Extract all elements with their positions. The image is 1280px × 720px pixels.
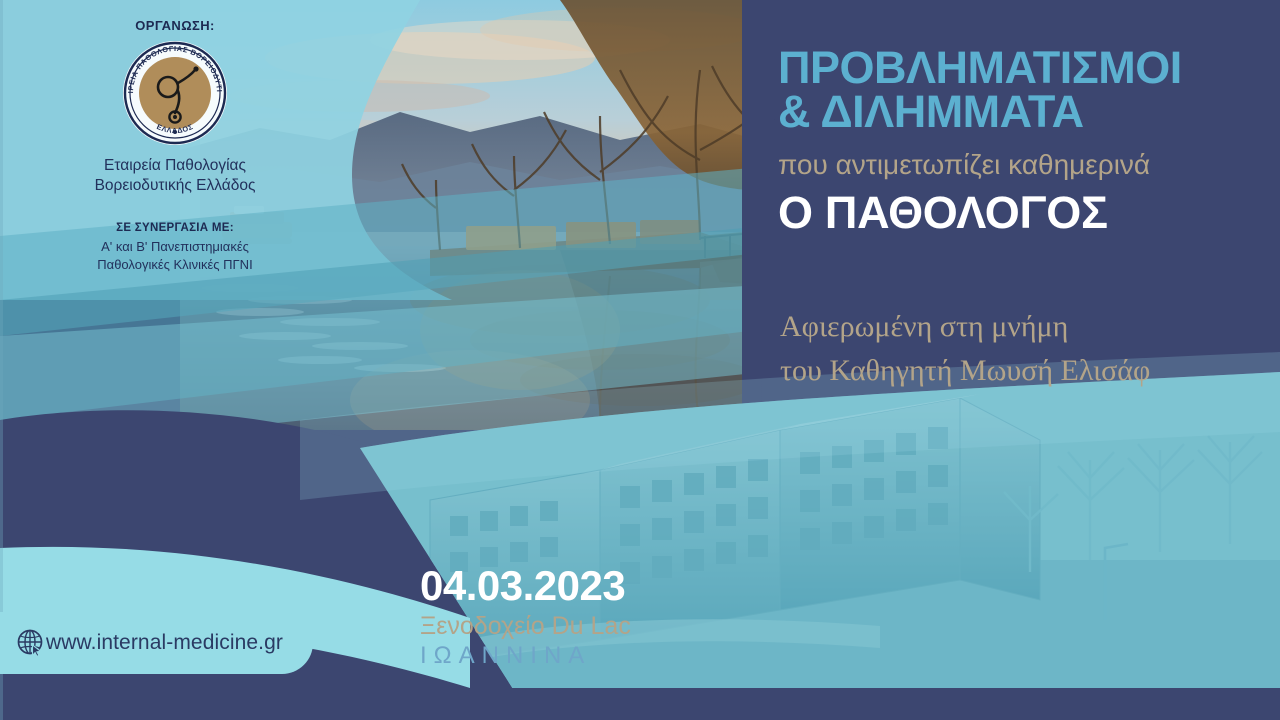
headline-subtitle: που αντιμετωπίζει καθημερινά: [778, 150, 1278, 181]
headline-line2: & ΔΙΛΗΜΜΑΤΑ: [778, 90, 1278, 134]
conference-poster: ΟΡΓΑΝΩΣΗ:: [0, 0, 1280, 720]
collaboration-line2: Παθολογικές Κλινικές ΠΓΝΙ: [0, 256, 350, 274]
headline-line1: ΠΡΟΒΛΗΜΑΤΙΣΜΟΙ: [778, 46, 1278, 90]
collaboration-text: Α' και Β' Πανεπιστημιακές Παθολογικές Κλ…: [0, 238, 350, 274]
headline-accent: Ο ΠΑΘΟΛΟΓΟΣ: [778, 190, 1278, 235]
society-name: Εταιρεία Παθολογίας Βορειοδυτικής Ελλάδο…: [0, 156, 350, 197]
collaboration-line1: Α' και Β' Πανεπιστημιακές: [0, 238, 350, 256]
website-pill[interactable]: www.internal-medicine.gr: [0, 612, 313, 674]
headline-block: ΠΡΟΒΛΗΜΑΤΙΣΜΟΙ & ΔΙΛΗΜΜΑΤΑ που αντιμετωπ…: [778, 46, 1278, 235]
organiser-column: ΟΡΓΑΝΩΣΗ:: [0, 18, 350, 274]
society-name-line2: Βορειοδυτικής Ελλάδος: [0, 176, 350, 196]
dedication-line2: του Καθηγητή Μωυσή Ελισάφ: [780, 349, 1280, 393]
event-details: 04.03.2023 Ξενοδοχείο Du Lac ΙΩΑΝΝΙΝΑ: [420, 565, 840, 668]
event-date: 04.03.2023: [420, 565, 840, 607]
event-venue: Ξενοδοχείο Du Lac: [420, 613, 840, 639]
event-city: ΙΩΑΝΝΙΝΑ: [420, 643, 840, 668]
dedication-line1: Αφιερωμένη στη μνήμη: [780, 305, 1280, 349]
society-name-line1: Εταιρεία Παθολογίας: [0, 156, 350, 176]
website-url[interactable]: www.internal-medicine.gr: [46, 631, 283, 655]
globe-cursor-icon: [16, 628, 46, 658]
dedication-text: Αφιερωμένη στη μνήμη του Καθηγητή Μωυσή …: [780, 305, 1280, 392]
society-logo: ΕΤΑΙΡΕΙΑ ΠΑΘΟΛΟΓΙΑΣ ΒΟΡΕΙΟΔΥΤΙΚΗΣ ΕΛΛΑΔΟ…: [121, 39, 229, 147]
stethoscope-seal-logo-icon: ΕΤΑΙΡΕΙΑ ΠΑΘΟΛΟΓΙΑΣ ΒΟΡΕΙΟΔΥΤΙΚΗΣ ΕΛΛΑΔΟ…: [121, 39, 229, 147]
organiser-label: ΟΡΓΑΝΩΣΗ:: [0, 18, 350, 33]
collaboration-label: ΣΕ ΣΥΝΕΡΓΑΣΙΑ ΜΕ:: [0, 222, 350, 234]
bottom-navy-strip: [0, 688, 1280, 720]
